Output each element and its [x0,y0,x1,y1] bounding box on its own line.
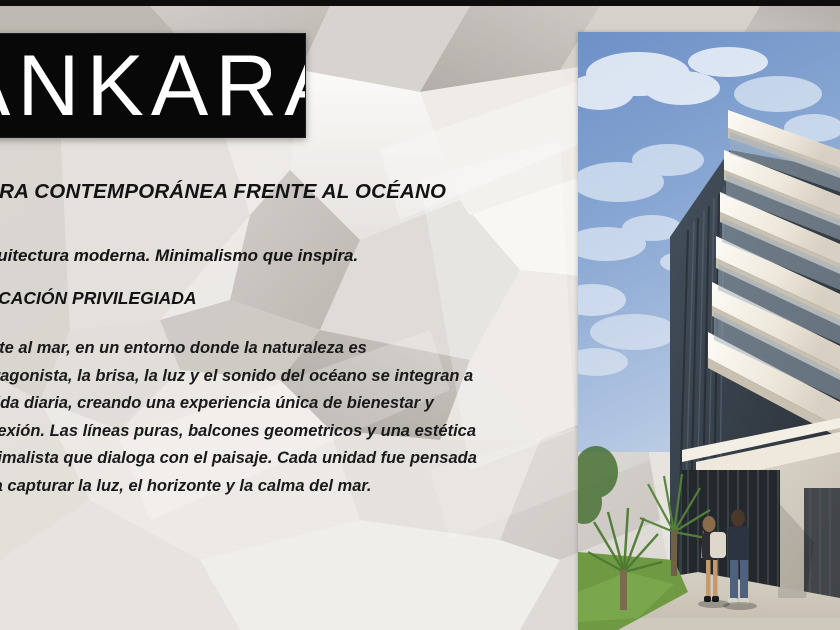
body-line: frente al mar, en un entorno donde la na… [0,335,568,363]
copy-column: OBRA CONTEMPORÁNEA FRENTE AL OCÉANO Arqu… [0,180,568,500]
body-line: protagonista, la brisa, la luz y el soni… [0,363,568,391]
body-paragraph: frente al mar, en un entorno donde la na… [0,335,568,500]
body-line: para capturar la luz, el horizonte y la … [0,473,568,501]
body-line: minimalista que dialoga con el paisaje. … [0,445,568,473]
body-line: la vida diaria, creando una experiencia … [0,390,568,418]
brand-logo-banner: ANKARA [0,33,306,138]
top-edge-band [0,0,840,6]
tagline: Arquitectura moderna. Minimalismo que in… [0,246,568,266]
presentation-slide: ANKARA OBRA CONTEMPORÁNEA FRENTE AL OCÉA… [0,0,840,630]
subheading-ubicacion: UBICACIÓN PRIVILEGIADA [0,288,568,309]
building-photo-artwork [578,32,840,630]
brand-wordmark: ANKARA [0,43,306,129]
body-line: conexión. Las líneas puras, balcones geo… [0,418,568,446]
building-photo [578,32,840,630]
headline: OBRA CONTEMPORÁNEA FRENTE AL OCÉANO [0,180,568,204]
